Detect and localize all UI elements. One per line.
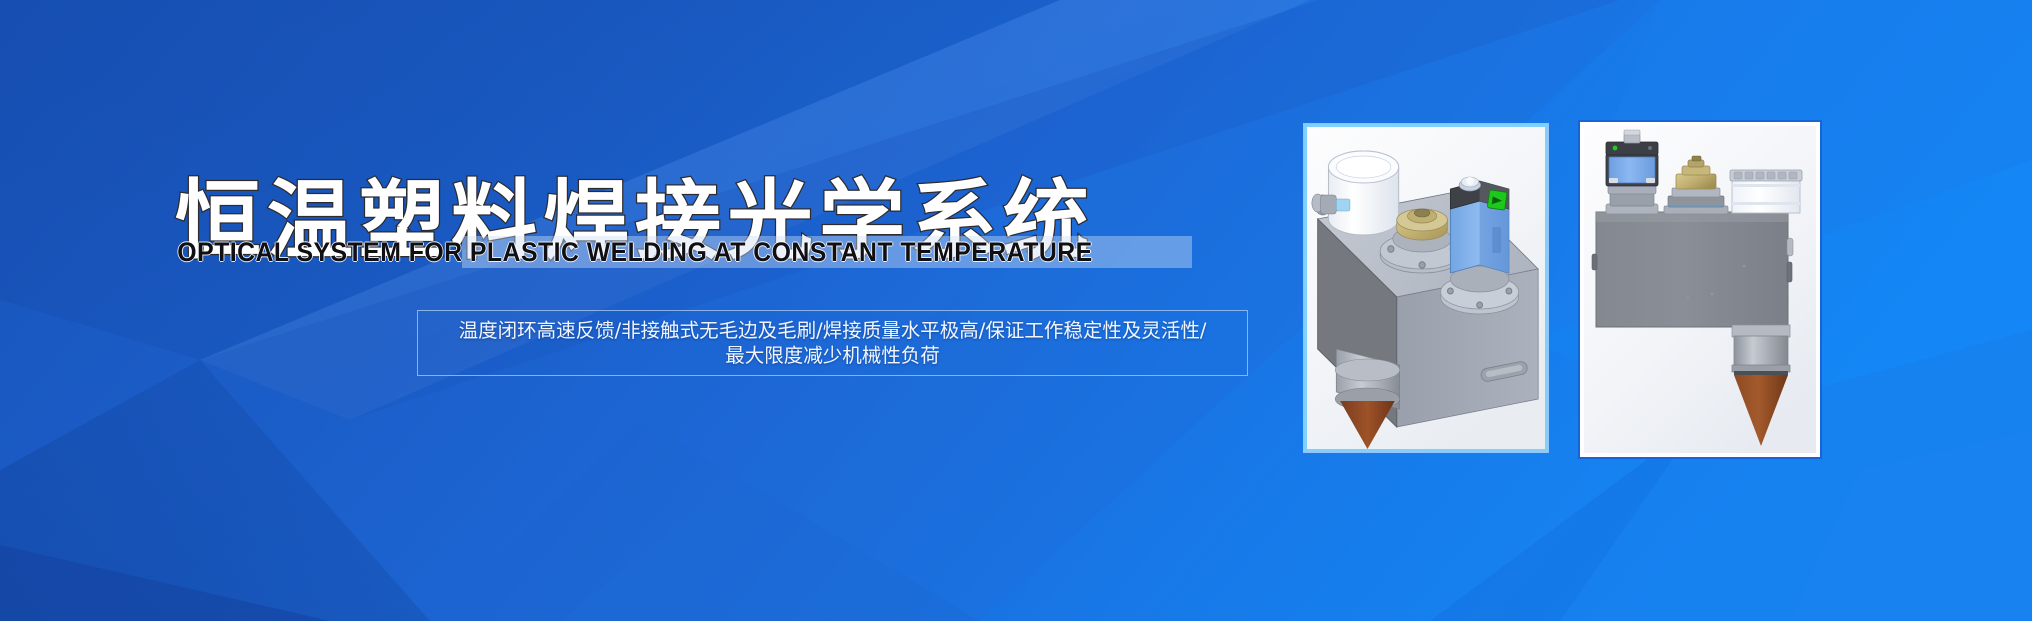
feature-line-1: 温度闭环高速反馈/非接触式无毛边及毛刷/焊接质量水平极高/保证工作稳定性及灵活性… xyxy=(459,318,1207,343)
promo-banner: 恒温塑料焊接光学系统 恒温塑料焊接光学系统 OPTICAL SYSTEM FOR… xyxy=(0,0,2032,621)
product-image-isometric xyxy=(1307,127,1545,449)
product-card-isometric[interactable] xyxy=(1304,124,1548,452)
feature-highlight-box: 温度闭环高速反馈/非接触式无毛边及毛刷/焊接质量水平极高/保证工作稳定性及灵活性… xyxy=(417,310,1248,376)
product-image-front xyxy=(1584,126,1816,453)
feature-text: 温度闭环高速反馈/非接触式无毛边及毛刷/焊接质量水平极高/保证工作稳定性及灵活性… xyxy=(445,318,1221,368)
banner-text-block: 恒温塑料焊接光学系统 恒温塑料焊接光学系统 OPTICAL SYSTEM FOR… xyxy=(0,0,1270,621)
product-card-front[interactable] xyxy=(1580,122,1820,457)
feature-line-2: 最大限度减少机械性负荷 xyxy=(459,343,1207,368)
english-subtitle: OPTICAL SYSTEM FOR PLASTIC WELDING AT CO… xyxy=(51,236,1219,268)
